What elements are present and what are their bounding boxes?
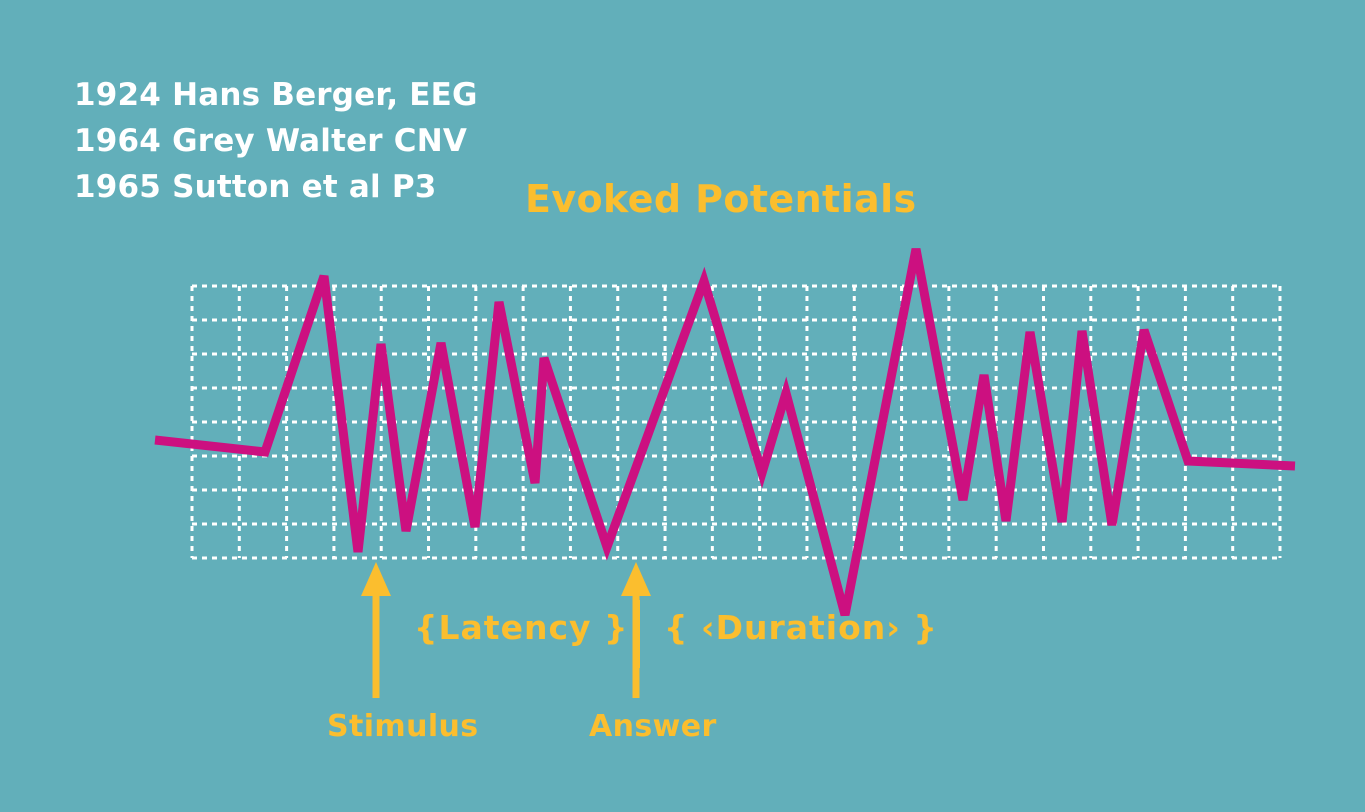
slide-canvas: 1924 Hans Berger, EEG 1964 Grey Walter C… xyxy=(0,0,1365,812)
eeg-waveform xyxy=(155,249,1295,615)
latency-bracket-label: {Latency } xyxy=(414,608,629,647)
stimulus-arrow-icon xyxy=(361,562,391,698)
answer-label: Answer xyxy=(589,709,717,744)
duration-bracket-label: { ‹Duration› } xyxy=(664,608,938,647)
eeg-chart xyxy=(0,0,1365,812)
stimulus-label: Stimulus xyxy=(327,709,479,744)
answer-divider-bar xyxy=(633,600,640,668)
